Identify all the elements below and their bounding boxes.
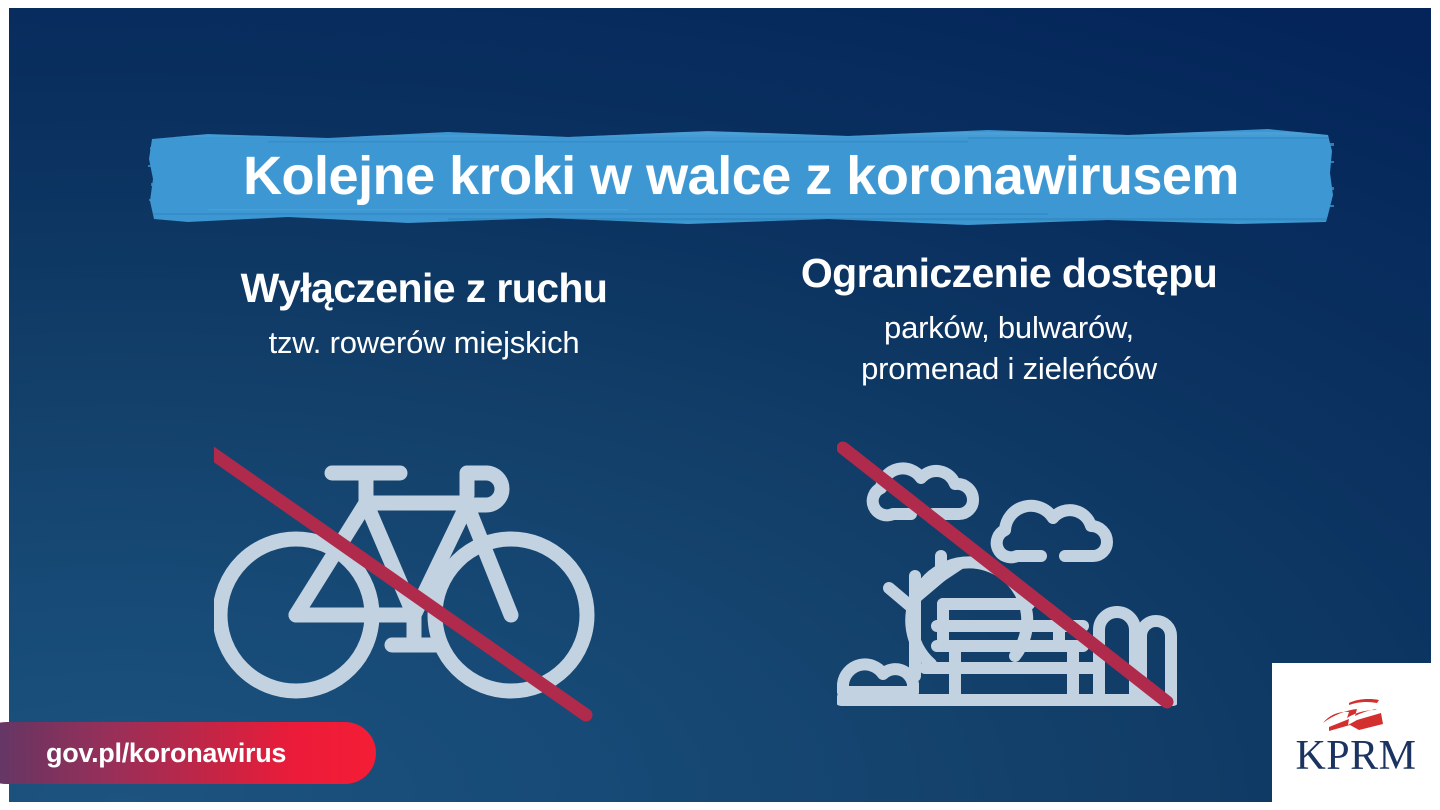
kprm-logo: KPRM <box>1272 663 1440 810</box>
park-prohibited-icon <box>837 440 1177 710</box>
column-bikes-subtitle-line-1: tzw. rowerów miejskich <box>129 322 719 363</box>
strike-through-line <box>214 451 586 715</box>
column-parks-subtitle-line-1: parków, bulwarów, <box>709 307 1309 348</box>
column-parks: Ograniczenie dostępu parków, bulwarów, p… <box>709 251 1309 389</box>
poster-root: Kolejne kroki w walce z koronawirusem Wy… <box>0 0 1440 810</box>
url-badge-label: gov.pl/koronawirus <box>46 738 286 769</box>
poster-canvas: Kolejne kroki w walce z koronawirusem Wy… <box>9 8 1431 802</box>
column-bikes-heading: Wyłączenie z ruchu <box>129 266 719 312</box>
bicycle-prohibited-icon <box>214 433 609 728</box>
column-bikes-subtitle: tzw. rowerów miejskich <box>129 322 719 363</box>
polish-flag-emblem-icon <box>1319 697 1393 731</box>
page-title: Kolejne kroki w walce z koronawirusem <box>148 125 1334 226</box>
column-parks-subtitle: parków, bulwarów, promenad i zieleńców <box>709 307 1309 389</box>
kprm-logo-text: KPRM <box>1295 735 1416 777</box>
url-badge[interactable]: gov.pl/koronawirus <box>0 722 376 784</box>
column-bikes: Wyłączenie z ruchu tzw. rowerów miejskic… <box>129 266 719 363</box>
column-parks-subtitle-line-2: promenad i zieleńców <box>709 348 1309 389</box>
column-parks-heading: Ograniczenie dostępu <box>709 251 1309 297</box>
